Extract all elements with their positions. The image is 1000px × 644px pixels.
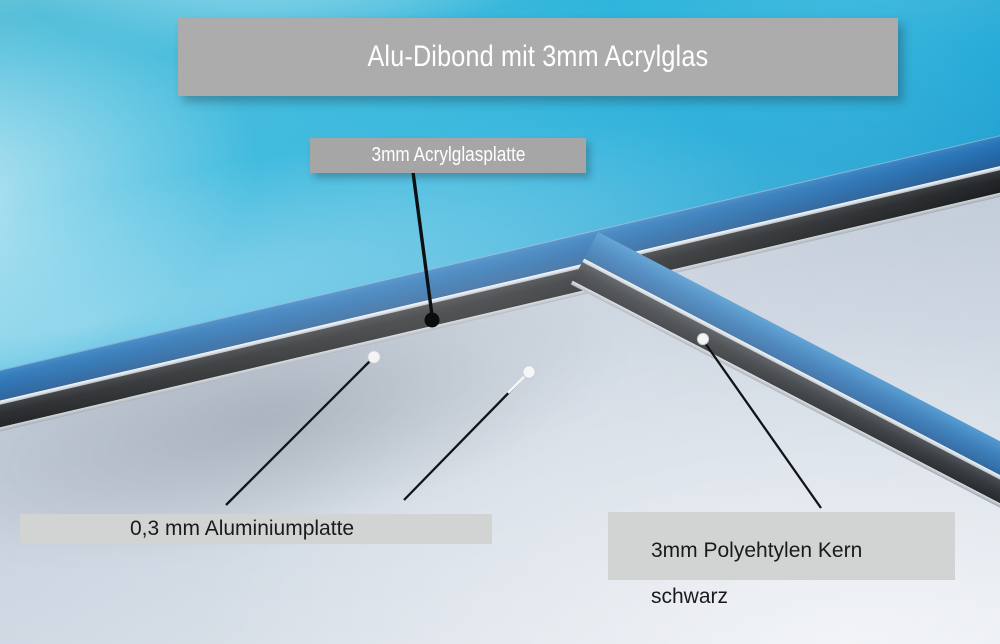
title-banner: Alu-Dibond mit 3mm Acrylglas — [178, 18, 898, 96]
leader-line-acrylglas — [413, 172, 432, 315]
callout-polyethylen-line2: schwarz — [651, 583, 955, 611]
marker-dot-acrylglas — [425, 313, 440, 328]
annotated-product-photo: Alu-Dibond mit 3mm Acrylglas 3mm Acrylgl… — [0, 0, 1000, 644]
title-banner-text: Alu-Dibond mit 3mm Acrylglas — [368, 40, 709, 74]
marker-dot-polyethylen — [697, 333, 708, 344]
callout-aluminium-text: 0,3 mm Aluminiumplatte — [130, 517, 354, 541]
callout-aluminium: 0,3 mm Aluminiumplatte — [20, 514, 492, 544]
leader-line-polyethylen — [705, 343, 821, 508]
marker-dot-aluminium-1 — [368, 351, 380, 363]
callout-polyethylen-line1: 3mm Polyehtylen Kern — [651, 537, 955, 565]
marker-dot-aluminium-2 — [523, 366, 535, 378]
leader-line-aluminium-2-highlight — [508, 374, 527, 393]
callout-acrylglas-text: 3mm Acrylglasplatte — [371, 144, 525, 167]
callout-polyethylen: 3mm Polyehtylen Kern schwarz — [608, 512, 955, 580]
leader-line-aluminium-2 — [404, 375, 526, 500]
leader-line-aluminium-1 — [226, 360, 371, 505]
callout-acrylglas: 3mm Acrylglasplatte — [310, 138, 586, 173]
